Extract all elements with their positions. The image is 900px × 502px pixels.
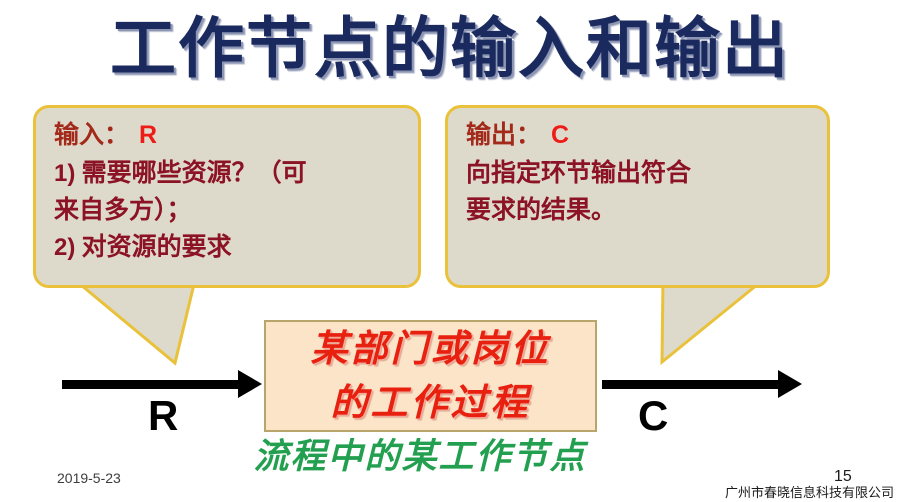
output-callout-heading: 输出：C — [466, 117, 817, 154]
output-callout-text: 输出：C 向指定环节输出符合 要求的结果。 — [466, 117, 817, 229]
output-callout: 输出：C 向指定环节输出符合 要求的结果。 — [445, 105, 830, 288]
process-node-text: 某部门或岗位 的工作过程 — [266, 323, 595, 431]
output-arrow-head-icon — [778, 370, 802, 398]
input-callout-line-1: 1) 需要哪些资源？（可 — [54, 155, 408, 192]
input-line-2-text: 来自多方）； — [54, 197, 192, 224]
slide-canvas: 工作节点的输入和输出 输入：R 1) 需要哪些资源？（可 来自多方）； 2) 对… — [0, 0, 900, 502]
footer-date: 2019-5-23 — [57, 470, 121, 486]
input-callout: 输入：R 1) 需要哪些资源？（可 来自多方）； 2) 对资源的要求 — [33, 105, 421, 288]
input-arrow-head-icon — [238, 370, 262, 398]
output-arrow-shaft — [602, 380, 782, 389]
input-heading-label: 输入： — [54, 122, 129, 149]
input-line-3-text: 对资源的要求 — [75, 234, 231, 261]
input-line-3-marker: 2) — [54, 234, 75, 261]
footer-company: 广州市春晓信息科技有限公司 — [725, 482, 894, 501]
output-callout-line-2: 要求的结果。 — [466, 192, 817, 229]
process-node-line-2: 的工作过程 — [331, 383, 531, 424]
input-arrow-label: R — [148, 395, 178, 437]
output-callout-line-1: 向指定环节输出符合 — [466, 155, 817, 192]
process-node-caption: 流程中的某工作节点 — [180, 435, 660, 479]
page-title: 工作节点的输入和输出 — [0, 8, 900, 92]
output-callout-tail — [662, 280, 763, 362]
input-line-1-marker: 1) — [54, 160, 75, 187]
input-line-1-text: 需要哪些资源？（可 — [75, 160, 306, 187]
output-heading-label: 输出： — [466, 122, 541, 149]
input-callout-heading: 输入：R — [54, 117, 408, 154]
input-heading-symbol: R — [139, 121, 157, 149]
process-node-box: 某部门或岗位 的工作过程 — [264, 320, 597, 432]
input-callout-line-3: 2) 对资源的要求 — [54, 229, 408, 266]
input-callout-tail — [75, 280, 195, 363]
input-callout-text: 输入：R 1) 需要哪些资源？（可 来自多方）； 2) 对资源的要求 — [54, 117, 408, 266]
input-arrow-shaft — [62, 380, 242, 389]
output-arrow-label: C — [638, 395, 668, 437]
input-callout-line-2: 来自多方）； — [54, 192, 408, 229]
output-heading-symbol: C — [551, 121, 569, 149]
process-node-line-1: 某部门或岗位 — [311, 329, 551, 370]
